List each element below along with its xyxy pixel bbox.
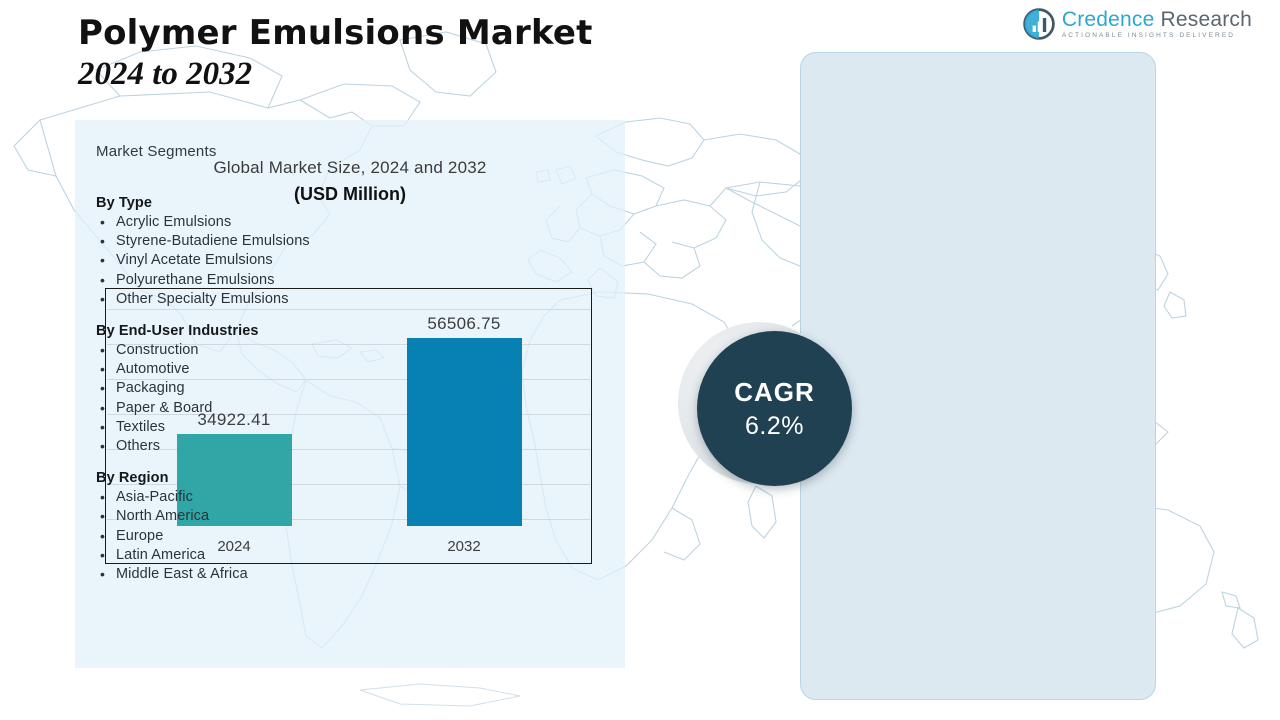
logo-name-primary: Credence: [1062, 8, 1155, 31]
list-item: Textiles: [96, 418, 366, 437]
bar-value-2032: 56506.75: [389, 314, 539, 334]
segment-group-heading: By Region: [96, 470, 366, 486]
list-item: Others: [96, 437, 366, 456]
logo-tagline: Actionable Insights Delivered: [1062, 33, 1252, 40]
list-item: Middle East & Africa: [96, 565, 366, 584]
segment-group-type: By Type Acrylic Emulsions Styrene-Butadi…: [96, 195, 366, 309]
market-segments-title: Market Segments: [96, 143, 217, 160]
list-item: Automotive: [96, 360, 366, 379]
title-line-1: Polymer Emulsions Market: [78, 14, 593, 53]
list-item: Europe: [96, 527, 366, 546]
segment-group-end-user-industries: By End-User Industries Construction Auto…: [96, 323, 366, 456]
infographic-canvas: Polymer Emulsions Market 2024 to 2032 Cr…: [0, 0, 1280, 720]
list-item: Other Specialty Emulsions: [96, 290, 366, 309]
brand-logo[interactable]: Credence Research Actionable Insights De…: [1023, 8, 1252, 40]
list-item: Polyurethane Emulsions: [96, 271, 366, 290]
list-item: Construction: [96, 341, 366, 360]
list-item: North America: [96, 507, 366, 526]
list-item: Styrene-Butadiene Emulsions: [96, 232, 366, 251]
bar-chart-circle-logo-icon: [1023, 8, 1055, 40]
list-item: Packaging: [96, 379, 366, 398]
list-item: Latin America: [96, 546, 366, 565]
logo-name-secondary: Research: [1154, 8, 1252, 31]
cagr-badge: CAGR 6.2%: [678, 322, 862, 494]
logo-company-name: Credence Research: [1062, 9, 1252, 30]
bar-2032: [407, 338, 522, 526]
cagr-label: CAGR: [734, 377, 815, 408]
market-segments-groups: By Type Acrylic Emulsions Styrene-Butadi…: [96, 195, 366, 584]
chart-title: Global Market Size, 2024 and 2032: [75, 158, 625, 178]
list-item: Asia-Pacific: [96, 488, 366, 507]
segment-group-heading: By Type: [96, 195, 366, 211]
segment-group-heading: By End-User Industries: [96, 323, 366, 339]
title-line-2: 2024 to 2032: [78, 55, 593, 95]
cagr-value: 6.2%: [745, 412, 804, 441]
segment-list-end-user-industries: Construction Automotive Packaging Paper …: [96, 341, 366, 456]
list-item: Paper & Board: [96, 399, 366, 418]
segment-list-region: Asia-Pacific North America Europe Latin …: [96, 488, 366, 584]
list-item: Acrylic Emulsions: [96, 213, 366, 232]
cagr-circle: CAGR 6.2%: [697, 331, 852, 486]
segment-group-region: By Region Asia-Pacific North America Eur…: [96, 470, 366, 584]
x-axis-label-2032: 2032: [389, 538, 539, 555]
segment-list-type: Acrylic Emulsions Styrene-Butadiene Emul…: [96, 213, 366, 309]
page-title: Polymer Emulsions Market 2024 to 2032: [78, 14, 593, 95]
list-item: Vinyl Acetate Emulsions: [96, 251, 366, 270]
logo-text: Credence Research Actionable Insights De…: [1062, 9, 1252, 40]
